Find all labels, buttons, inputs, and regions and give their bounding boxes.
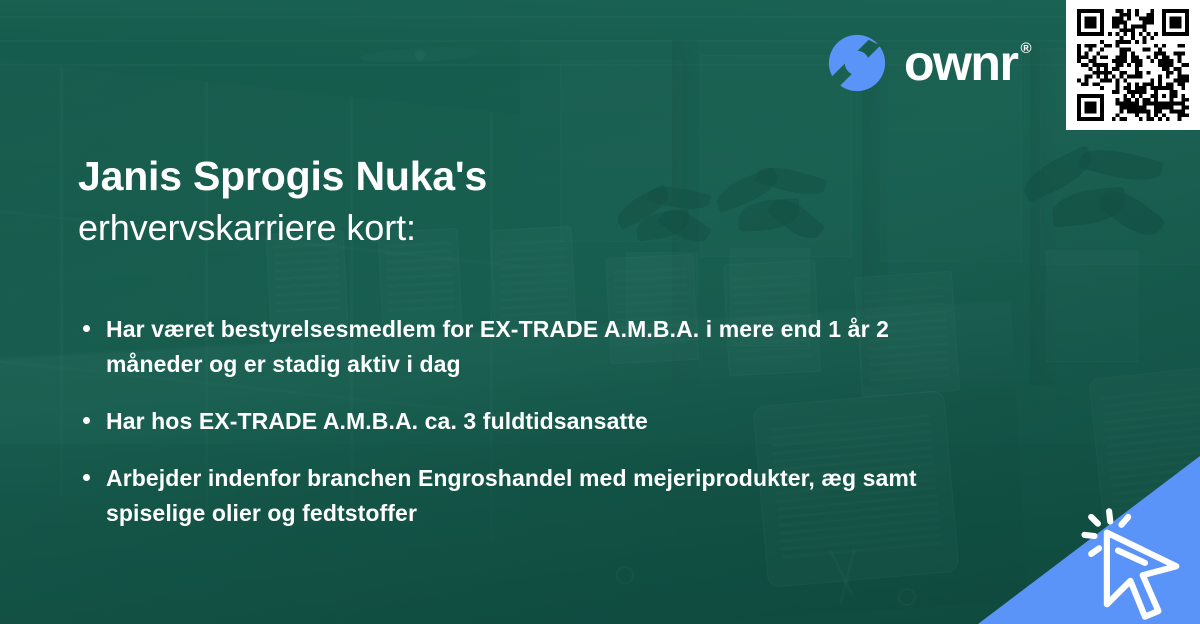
bullet-dot-icon [83, 417, 90, 424]
person-name: Janis Sprogis Nuka's [78, 152, 487, 200]
business-career-card: ownr ® Janis Sprogis Nuka's erhvervskarr… [0, 0, 1200, 624]
list-item: Har været bestyrelsesmedlem for EX-TRADE… [80, 312, 980, 382]
bullet-dot-icon [83, 325, 90, 332]
registered-trademark-icon: ® [1020, 41, 1030, 56]
qr-code-panel[interactable] [1066, 0, 1200, 130]
list-item: Arbejder indenfor branchen Engroshandel … [80, 461, 980, 531]
ownr-circle-swoosh-icon [826, 32, 888, 94]
page-title: Janis Sprogis Nuka's erhvervskarriere ko… [78, 152, 487, 250]
qr-code-icon[interactable] [1077, 9, 1189, 121]
list-item: Har hos EX-TRADE A.M.B.A. ca. 3 fuldtids… [80, 404, 980, 439]
ownr-wordmark: ownr ® [904, 38, 1030, 88]
career-facts-list: Har været bestyrelsesmedlem for EX-TRADE… [80, 312, 980, 531]
ownr-logo-lockup[interactable]: ownr ® [826, 32, 1030, 94]
list-item-text: Arbejder indenfor branchen Engroshandel … [106, 465, 917, 526]
bullet-dot-icon [83, 474, 90, 481]
click-cursor-icon [1080, 508, 1192, 620]
ownr-wordmark-text: ownr [904, 38, 1017, 88]
list-item-text: Har været bestyrelsesmedlem for EX-TRADE… [106, 316, 889, 377]
page-subtitle: erhvervskarriere kort: [78, 206, 487, 249]
list-item-text: Har hos EX-TRADE A.M.B.A. ca. 3 fuldtids… [106, 408, 648, 434]
